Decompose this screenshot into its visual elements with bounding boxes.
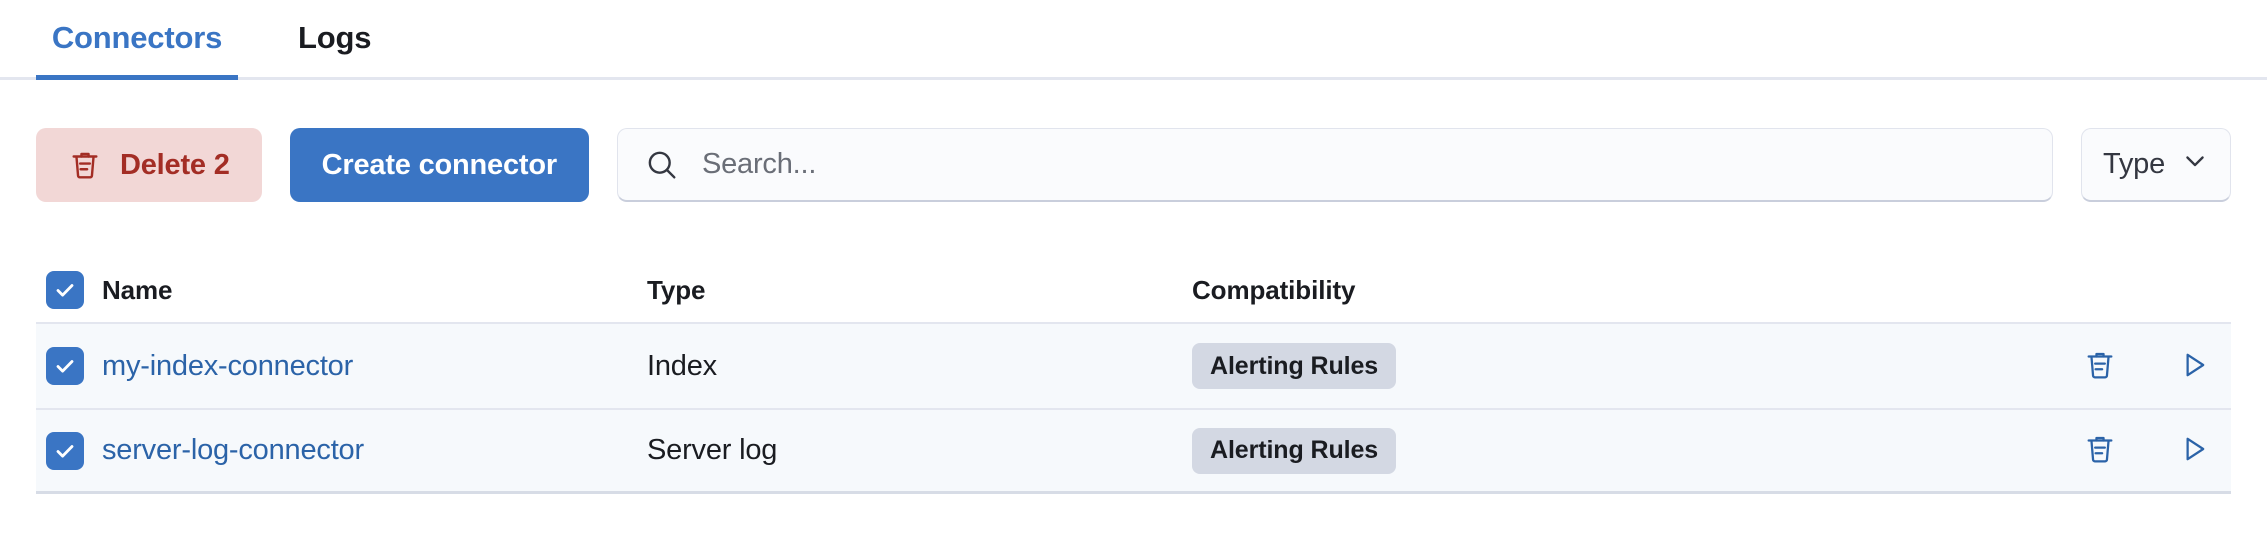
column-header-name[interactable]: Name xyxy=(102,275,647,306)
connectors-page: Connectors Logs Delete 2 Create connecto… xyxy=(0,0,2267,537)
search-input[interactable] xyxy=(702,129,2052,200)
play-icon xyxy=(2177,432,2211,469)
row-actions-cell xyxy=(1991,432,2231,469)
search-icon xyxy=(644,147,680,183)
column-header-type-label: Type xyxy=(647,275,705,305)
connector-type-text: Server log xyxy=(647,434,777,466)
row-compatibility-cell: Alerting Rules xyxy=(1192,428,1991,474)
type-filter-dropdown[interactable]: Type xyxy=(2081,128,2231,202)
row-actions-cell xyxy=(1991,348,2231,385)
row-type-cell: Index xyxy=(647,350,1192,383)
row-checkbox[interactable] xyxy=(46,347,84,385)
create-connector-button[interactable]: Create connector xyxy=(290,128,589,202)
table-header-row: Name Type Compatibility xyxy=(36,258,2231,322)
search-box[interactable] xyxy=(617,128,2053,202)
toolbar: Delete 2 Create connector Type xyxy=(36,128,2231,202)
row-run-button[interactable] xyxy=(2177,348,2211,385)
tab-connectors[interactable]: Connectors xyxy=(36,0,238,80)
row-delete-button[interactable] xyxy=(2083,348,2117,385)
type-filter-label: Type xyxy=(2103,148,2165,181)
connector-type-text: Index xyxy=(647,350,717,382)
delete-button[interactable]: Delete 2 xyxy=(36,128,262,202)
trash-icon xyxy=(2083,348,2117,385)
delete-button-label: Delete 2 xyxy=(120,149,230,182)
tab-bar: Connectors Logs xyxy=(0,0,2267,80)
play-icon xyxy=(2177,348,2211,385)
connector-name-link[interactable]: server-log-connector xyxy=(102,434,364,466)
connector-name-link[interactable]: my-index-connector xyxy=(102,350,353,382)
row-name-cell: my-index-connector xyxy=(102,350,647,383)
status-badge: Alerting Rules xyxy=(1192,428,1396,474)
row-compatibility-cell: Alerting Rules xyxy=(1192,343,1991,389)
trash-icon xyxy=(68,148,102,182)
tab-logs[interactable]: Logs xyxy=(298,0,371,80)
row-select-cell xyxy=(36,432,102,470)
select-all-cell xyxy=(36,271,102,309)
chevron-down-icon xyxy=(2181,147,2209,183)
table-row[interactable]: my-index-connector Index Alerting Rules xyxy=(36,322,2231,408)
tab-connectors-label: Connectors xyxy=(52,20,222,56)
status-badge: Alerting Rules xyxy=(1192,343,1396,389)
row-delete-button[interactable] xyxy=(2083,432,2117,469)
column-header-name-label: Name xyxy=(102,275,172,305)
trash-icon xyxy=(2083,432,2117,469)
row-select-cell xyxy=(36,347,102,385)
tab-active-underline xyxy=(36,75,238,80)
tab-logs-label: Logs xyxy=(298,20,371,56)
row-run-button[interactable] xyxy=(2177,432,2211,469)
column-header-compatibility[interactable]: Compatibility xyxy=(1192,275,1991,306)
connectors-table: Name Type Compatibility my-index-connect… xyxy=(36,258,2231,494)
row-name-cell: server-log-connector xyxy=(102,434,647,467)
column-header-type[interactable]: Type xyxy=(647,275,1192,306)
select-all-checkbox[interactable] xyxy=(46,271,84,309)
row-checkbox[interactable] xyxy=(46,432,84,470)
column-header-compatibility-label: Compatibility xyxy=(1192,275,1355,305)
row-type-cell: Server log xyxy=(647,434,1192,467)
table-row[interactable]: server-log-connector Server log Alerting… xyxy=(36,408,2231,494)
create-connector-label: Create connector xyxy=(322,149,557,182)
